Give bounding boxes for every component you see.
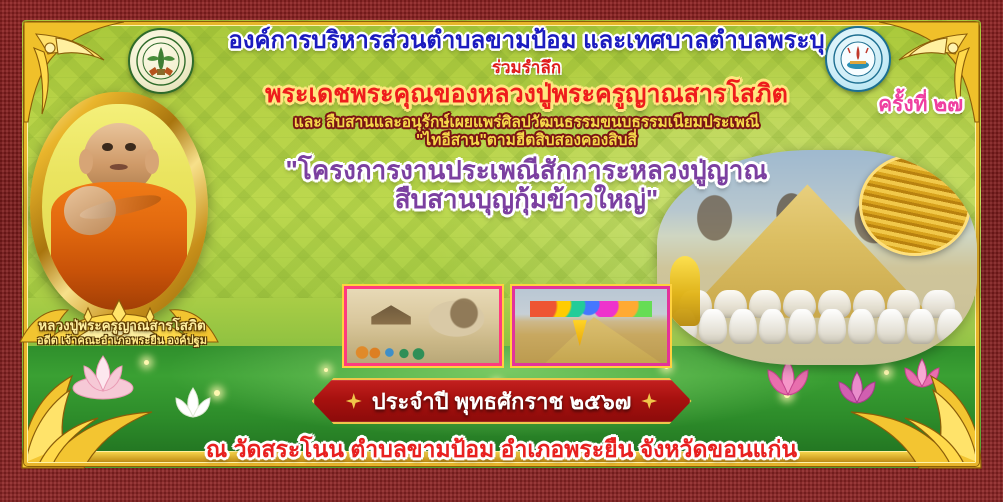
portrait-name: หลวงปู่พระครูญาณสารโสภิต	[8, 318, 236, 333]
commemorate-label: ร่วมรำลึก	[150, 59, 903, 77]
portrait-caption: หลวงปู่พระครูญาณสารโสภิต อดีต เจ้าคณะอำเ…	[8, 318, 236, 347]
rice-sack-row-front	[670, 309, 964, 343]
edition-badge: ครั้งที่ ๒๗	[878, 88, 963, 121]
year-text: ประจำปี พุทธศักราช ๒๕๖๗	[372, 384, 632, 419]
sparkle-icon	[324, 368, 328, 372]
lotus-icon	[66, 348, 140, 404]
venue-line: ณ วัดสระโนน ตำบลขามป้อม อำเภอพระยืน จังห…	[0, 432, 1003, 468]
lotus-icon	[164, 384, 222, 424]
lotus-icon	[826, 366, 888, 414]
lotus-icon	[894, 354, 950, 398]
purpose-line-2: "ไทอีสาน"ตามฮีตสิบสองคองสิบสี่	[150, 133, 903, 149]
organizers-line: องค์การบริหารส่วนตำบลขามป้อม และเทศบาลตำ…	[150, 28, 903, 53]
project-title-line-2: สืบสานบุญกุ้มข้าวใหญ่"	[150, 186, 903, 213]
honoree-line: พระเดชพระคุณของหลวงปู่พระครูญาณสารโสภิต	[150, 81, 903, 107]
headline-block: องค์การบริหารส่วนตำบลขามป้อม และเทศบาลตำ…	[150, 28, 903, 213]
purpose-line-1: และ สืบสานและอนุรักษ์เผยแพร่ศิลปวัฒนธรรม…	[150, 115, 903, 131]
gold-diamond-ornament-icon	[346, 393, 362, 409]
monk-portrait	[30, 92, 208, 322]
sparkle-icon	[144, 360, 149, 365]
gold-tassel-decor	[670, 256, 700, 326]
rice-festival-photo	[512, 286, 670, 366]
year-ribbon: ประจำปี พุทธศักราช ๒๕๖๗	[312, 378, 692, 424]
portrait-title: อดีต เจ้าคณะอำเภอพระยืน องค์ปฐม	[8, 335, 236, 347]
event-banner: องค์การบริหารส่วนตำบลขามป้อม และเทศบาลตำ…	[0, 0, 1003, 502]
project-title-line-1: "โครงการงานประเพณีสักการะหลวงปู่ญาณ	[150, 157, 903, 184]
gold-diamond-ornament-icon	[641, 393, 657, 409]
isan-village-painting-photo	[344, 286, 502, 366]
